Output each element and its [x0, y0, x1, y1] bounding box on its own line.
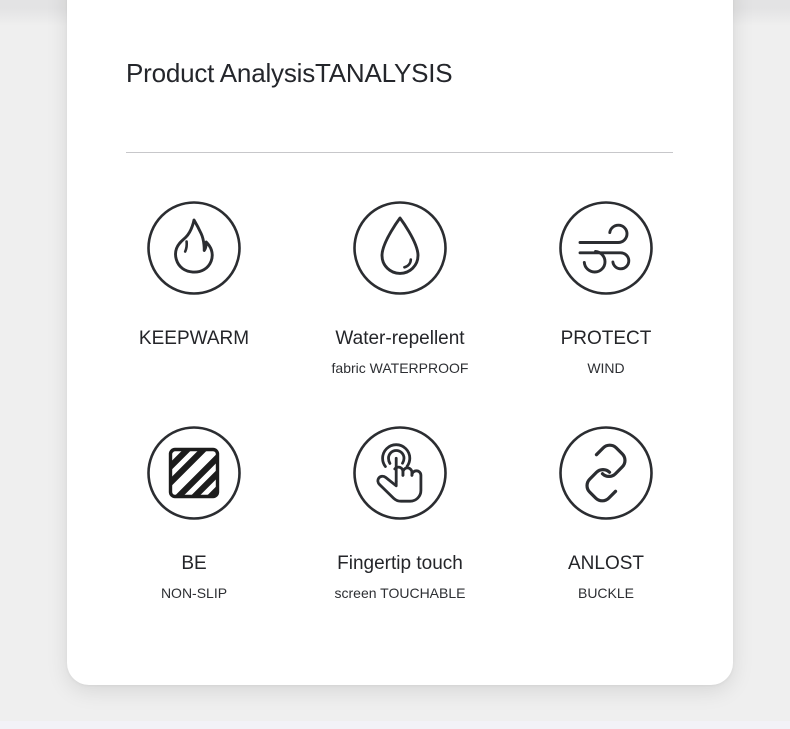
feature-label: BE	[181, 554, 206, 573]
feature-item-water-repellent[interactable]: Water-repellent fabric WATERPROOF	[297, 200, 503, 425]
feature-item-anti-lost-buckle[interactable]: ANLOST BUCKLE	[503, 425, 709, 650]
page-title: Product AnalysisTANALYSIS	[126, 60, 452, 86]
feature-item-wind-protect[interactable]: PROTECT WIND	[503, 200, 709, 425]
feature-label: Water-repellent	[335, 329, 464, 348]
wind-icon	[558, 200, 654, 296]
hatched-square-icon	[146, 425, 242, 521]
product-analysis-card: Product AnalysisTANALYSIS KEEPWARM	[67, 0, 733, 685]
feature-sublabel: fabric WATERPROOF	[332, 361, 469, 375]
chain-link-icon	[558, 425, 654, 521]
feature-item-keepwarm[interactable]: KEEPWARM	[91, 200, 297, 425]
feature-item-non-slip[interactable]: BE NON-SLIP	[91, 425, 297, 650]
feature-label: PROTECT	[561, 329, 652, 348]
feature-sublabel: NON-SLIP	[161, 586, 227, 600]
feature-sublabel: BUCKLE	[578, 586, 634, 600]
title-divider	[126, 152, 673, 153]
feature-label: ANLOST	[568, 554, 644, 573]
bottom-strip	[0, 721, 790, 729]
feature-label: KEEPWARM	[139, 329, 249, 348]
fingertip-touch-icon	[352, 425, 448, 521]
feature-sublabel: WIND	[587, 361, 624, 375]
feature-label: Fingertip touch	[337, 554, 463, 573]
feature-grid: KEEPWARM Water-repellent fabric WATERPRO…	[67, 200, 733, 650]
water-drop-icon	[352, 200, 448, 296]
feature-sublabel: screen TOUCHABLE	[335, 586, 466, 600]
flame-icon	[146, 200, 242, 296]
feature-item-fingertip-touch[interactable]: Fingertip touch screen TOUCHABLE	[297, 425, 503, 650]
